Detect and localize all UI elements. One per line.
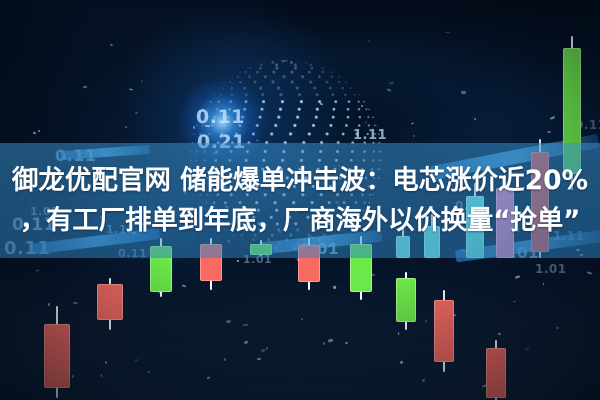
news-banner-image: 0.110.211.110.111.010.110.111.011.011.01… <box>0 0 600 400</box>
headline-text-block: 御龙优配官网 储能爆单冲击波：电芯涨价近20% ，有工厂排单到年底，厂商海外以价… <box>0 143 600 258</box>
headline-line-2: ，有工厂排单到年底，厂商海外以价换量“抢单” <box>20 201 580 240</box>
headline-line-1: 御龙优配官网 储能爆单冲击波：电芯涨价近20% <box>12 161 588 200</box>
